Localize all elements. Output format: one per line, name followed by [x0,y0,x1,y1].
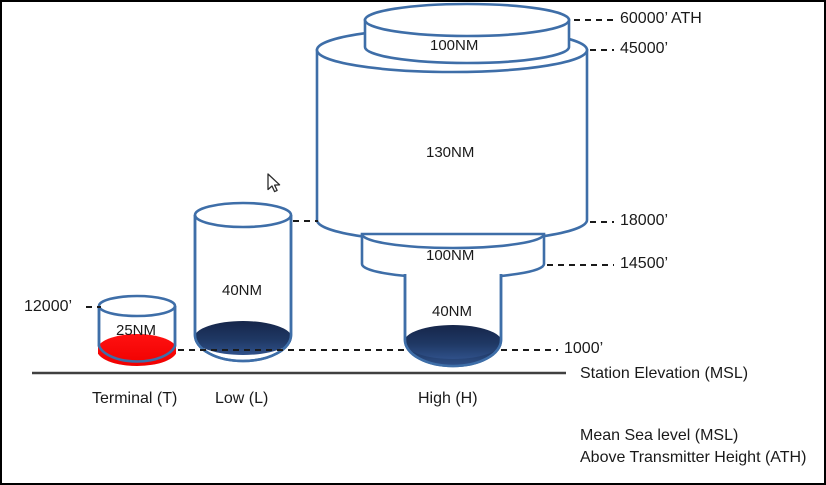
label-terminal-25nm: 25NM [116,322,156,339]
legend-mean-sea-level: Mean Sea level (MSL) [580,427,738,445]
axis-label-low: Low (L) [215,390,268,408]
high-40nm-navy-bowl [404,325,502,359]
label-station-elevation: Station Elevation (MSL) [580,365,748,383]
label-altitude-45000: 45000’ [620,40,668,58]
label-high-base-40nm: 40NM [432,303,472,320]
high-100nm-top-ellipse [365,4,569,36]
axis-label-terminal: Terminal (T) [92,390,177,408]
diagram-canvas: 100NM 130NM 100NM 40NM 40NM 25NM 60000’ … [0,0,826,485]
axis-label-high: High (H) [418,390,478,408]
label-altitude-1000: 1000’ [564,340,603,358]
legend-above-transmitter-height: Above Transmitter Height (ATH) [580,449,806,467]
terminal-25nm-top-ellipse [99,296,175,316]
high-volume-40nm-base [404,274,502,366]
low-40nm-top-ellipse [195,203,291,227]
label-altitude-14500: 14500’ [620,255,668,273]
label-altitude-12000: 12000’ [24,298,72,316]
label-high-top-100nm: 100NM [430,37,478,54]
label-low-40nm: 40NM [222,282,262,299]
mouse-pointer-icon [268,174,280,192]
high-volume-100nm-top-disc [365,4,569,63]
label-altitude-60000-ath: 60000’ ATH [620,10,702,28]
label-high-skirt-100nm: 100NM [426,247,474,264]
label-high-130nm: 130NM [426,144,474,161]
service-volume-drawing [2,2,826,485]
label-altitude-18000: 18000’ [620,212,668,230]
